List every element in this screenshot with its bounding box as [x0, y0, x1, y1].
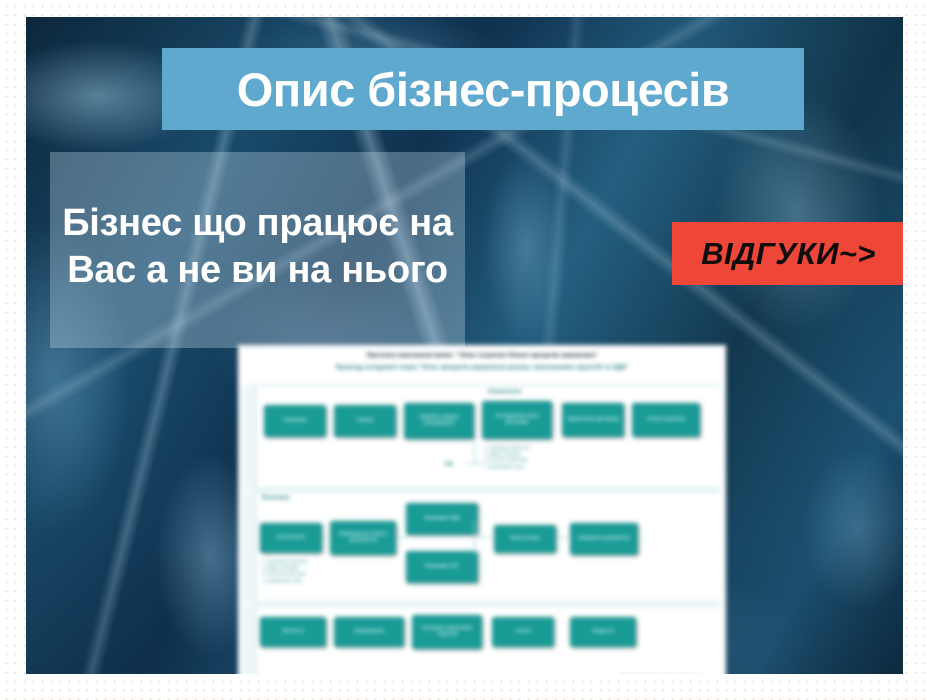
diagram-node: Аналіз [492, 617, 554, 647]
diagram-connector [474, 521, 475, 555]
diagram-note-secondary: 1. Перевірка реквізитів 2. Звірка залишк… [262, 559, 362, 584]
diagram-rail-bottom [242, 605, 256, 674]
slide-image: Опис бізнес-процесів Бізнес що працює на… [26, 17, 903, 674]
diagram-node: Замовник [264, 405, 326, 437]
diagram-connector [396, 537, 408, 538]
diagram-connector [322, 537, 332, 538]
subtitle-panel: Бізнес що працює на Вас а не ви на нього [50, 152, 465, 348]
page-title: Опис бізнес-процесів [237, 66, 730, 113]
diagram-node: Проводка АКТ [406, 551, 478, 583]
diagram-node: Підписання договору [562, 403, 624, 437]
diagram-rail-middle [242, 491, 256, 603]
diagram-node: Передача документів [570, 523, 638, 555]
diagram-node: Контроль виконання гарантій [412, 615, 482, 649]
diagram-node: Оплата рахунку [632, 403, 700, 437]
diagram-lane-top [242, 385, 720, 489]
diagram-node: Бухгалтерія [494, 525, 556, 553]
diagram-heading-line-1: Протокол виконання вимог: "Опис існуючих… [238, 350, 726, 362]
diagram-node: Постачання [260, 523, 322, 553]
title-banner: Опис бізнес-процесів [162, 48, 804, 130]
diagram-lane-middle-label: Виконавці [262, 495, 290, 501]
diagram-node: Закриття [570, 617, 636, 647]
diagram-node: Погодження умов договору [482, 401, 552, 439]
diagram-rail-top [242, 385, 256, 489]
reviews-callout-button[interactable]: ВІДГУКИ~> [672, 222, 903, 285]
diagram-node: Архівування [334, 617, 404, 647]
reviews-callout-label: ВІДГУКИ~> [701, 236, 876, 272]
diagram-connector [478, 537, 496, 538]
business-process-diagram: Протокол виконання вимог: "Опис існуючих… [238, 345, 726, 674]
diagram-heading-line-2: Приклад складової схеми "Опис процесів у… [238, 362, 726, 374]
diagram-connector [556, 537, 572, 538]
diagram-node: Формування пакету документів [330, 521, 396, 555]
diagram-node: Заявка [334, 405, 396, 437]
diagram-node: Проводка ПДВ [406, 503, 478, 535]
diagram-connector [474, 439, 475, 465]
diagram-heading: Протокол виконання вимог: "Опис існуючих… [238, 345, 726, 385]
diagram-note-list: 1. Перевірка реквізитів 2. Звірка залишк… [484, 445, 604, 470]
diagram-note-tag: ПДВ [444, 461, 453, 467]
diagram-node: Обробка заявки менеджером [404, 403, 474, 439]
diagram-node: Звітність [260, 617, 326, 647]
diagram-lane-top-label: Керівництво [488, 389, 521, 395]
subtitle-text: Бізнес що працює на Вас а не ви на нього [60, 200, 455, 295]
